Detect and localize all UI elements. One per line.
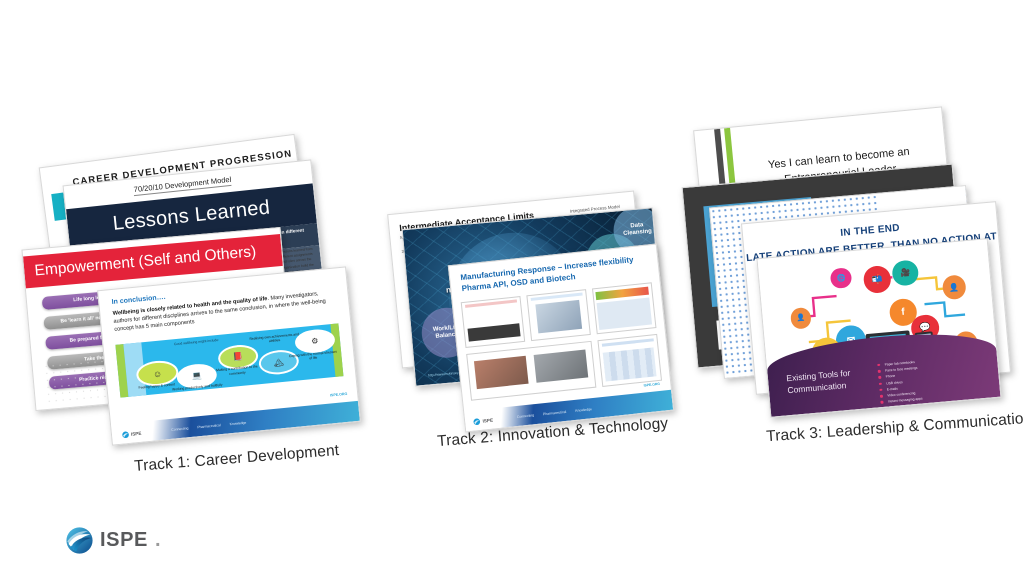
thumb-1-header (465, 299, 517, 308)
slide-collage-canvas: Early career management CAREER DEVELOPME… (0, 0, 1024, 576)
wellbeing-caption-5: Coping with the normal stresses of life (287, 349, 339, 362)
wellbeing-caption-4: Realising own achievements and abilities (247, 332, 301, 346)
thumb-4-photo-1 (474, 355, 529, 389)
t2-slide-manufacturing-response[interactable]: Manufacturing Response – Increase flexib… (448, 243, 674, 432)
slide-ispe-wordmark: ISPE (131, 431, 142, 437)
thumb-4-photo-2 (533, 349, 588, 383)
thumb-5-body (603, 347, 657, 381)
thumb-1 (461, 296, 525, 349)
thumb-2 (526, 289, 590, 342)
t1-slide4-footer-mark: ISPE.ORG (330, 393, 348, 399)
t2-slide3-screenshot-grid (461, 282, 662, 401)
t1-slide4-heading: In conclusion…. (111, 294, 165, 306)
thumb-3-body (597, 297, 653, 329)
wellbeing-strip: Good wellbeing might include: ☺ Feeling … (116, 324, 343, 398)
thumb-5 (597, 334, 661, 387)
t1-slide-in-conclusion[interactable]: In conclusion…. Wellbeing is closely rel… (97, 266, 361, 445)
strip-caption: Good wellbeing might include: (174, 338, 219, 346)
t1-slide3-title: Empowerment (Self and Others) (34, 244, 257, 281)
thumb-4 (466, 341, 596, 401)
track-1-caption: Track 1: Career Development (134, 442, 340, 476)
ispe-brand-logo: ISPE . (66, 527, 161, 554)
thumb-2-body (535, 300, 582, 333)
thumb-1-body (468, 323, 521, 342)
t3-slide-existing-tools-for-communication[interactable]: 🌐 ✉ ✆ 🐦 📬 f 💬 🎥 👤 👥 👤 👥 (756, 238, 1001, 418)
ispe-globe-icon (473, 418, 481, 426)
thumb-3 (592, 282, 656, 335)
ispe-wordmark: ISPE (100, 529, 148, 552)
slide-ispe-wordmark: ISPE (482, 418, 493, 424)
track-3-caption: Track 3: Leadership & Communication (766, 410, 1024, 447)
t3-slide5-bullet-list: Paper lab notebooks Face to face meeting… (838, 353, 988, 416)
ispe-globe-icon (66, 527, 93, 554)
ispe-wordmark-dot: . (155, 529, 161, 552)
ispe-globe-icon (122, 431, 130, 439)
wellbeing-caption-3: Making a contribution to the community (210, 364, 264, 378)
t2-slide3-footer-mark: ISPE.ORG (643, 382, 660, 388)
thumb-5-header (602, 338, 654, 347)
